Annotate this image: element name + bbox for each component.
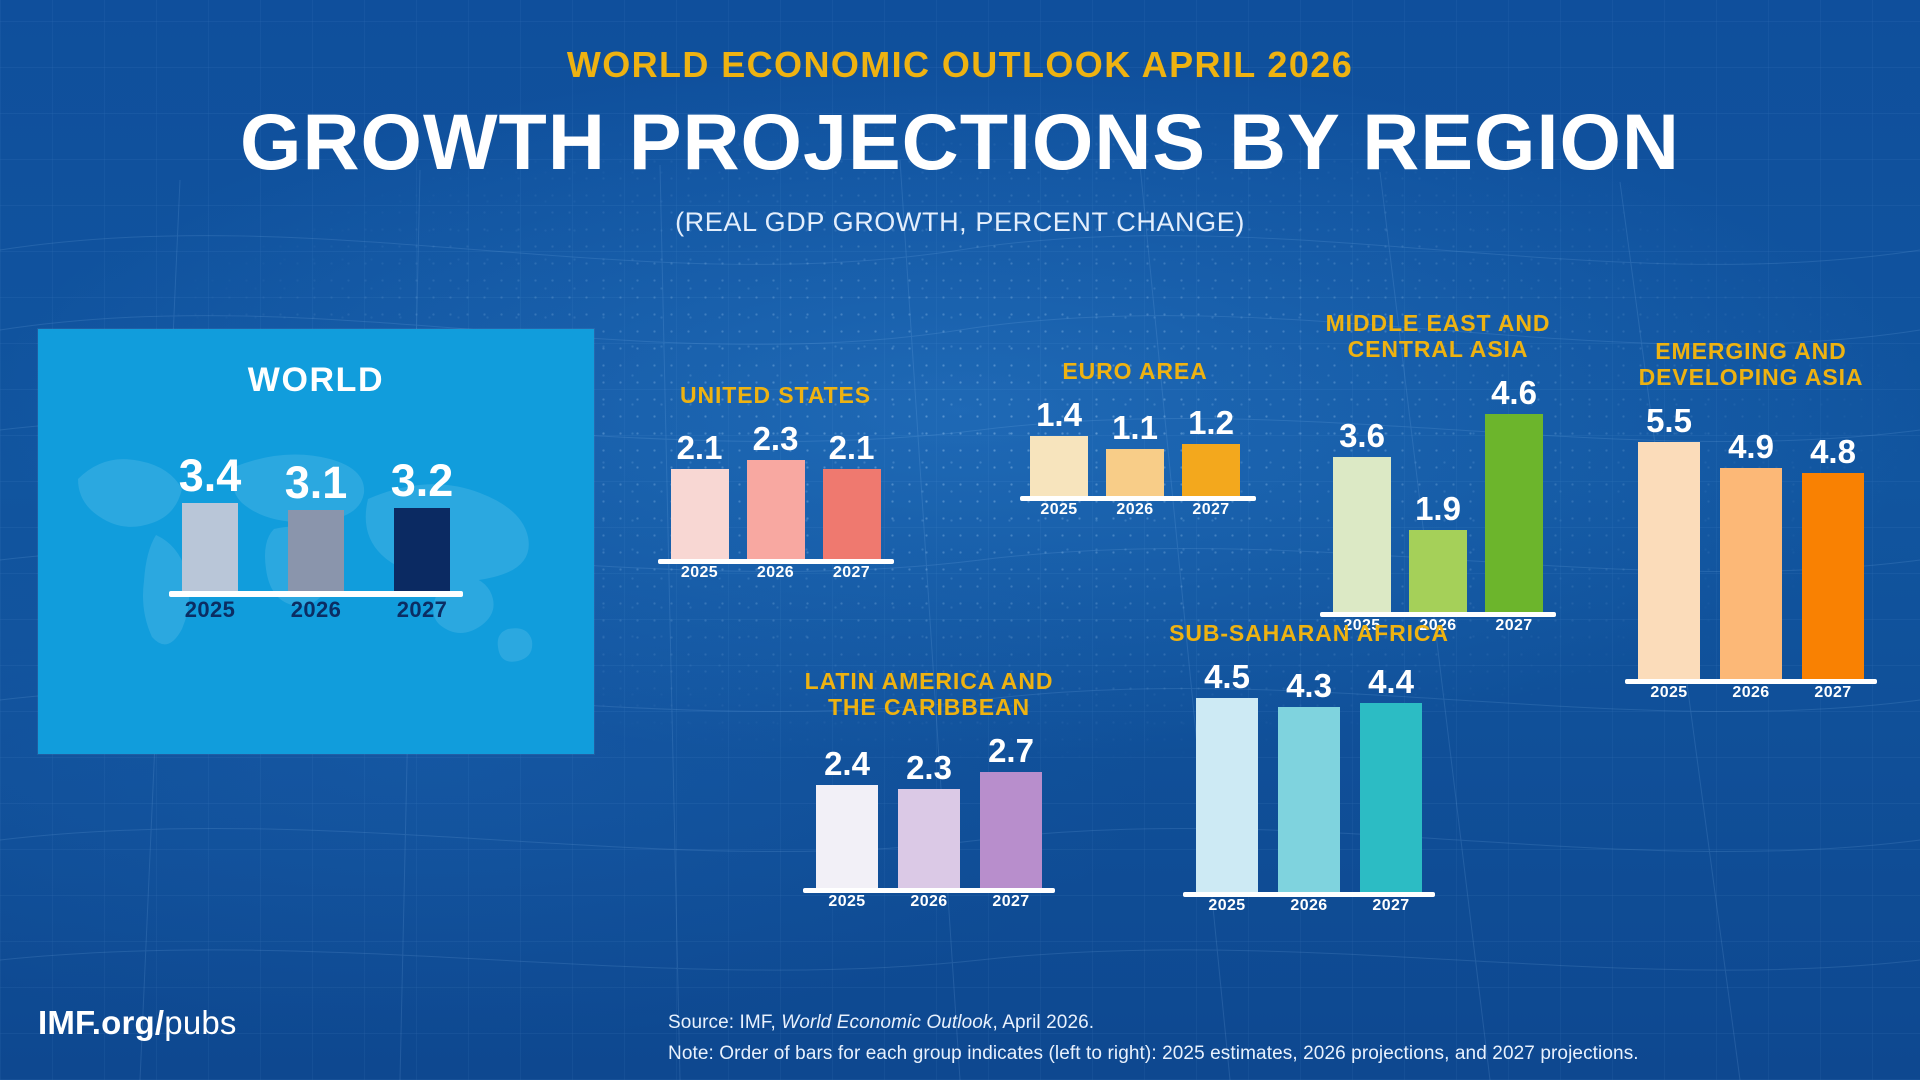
year-label: 2026: [747, 564, 805, 582]
bar: [1360, 703, 1422, 892]
year-label: 2027: [1360, 897, 1422, 915]
year-label: 2026: [1278, 897, 1340, 915]
year-label: 2025: [816, 893, 878, 911]
bar: [1485, 414, 1543, 612]
bar-value-label: 3.4: [179, 453, 242, 498]
bar: [1638, 442, 1700, 679]
year-label: 2027: [1182, 501, 1240, 519]
bar: [980, 772, 1042, 888]
year-label: 2026: [1720, 684, 1782, 702]
bar-column: 2.1: [823, 431, 881, 559]
bar-column: 1.1: [1106, 411, 1164, 496]
footnotes: Source: IMF, World Economic Outlook, Apr…: [668, 1008, 1639, 1070]
bar-column: 2.4: [816, 747, 878, 888]
bar: [1030, 436, 1088, 496]
bar: [816, 785, 878, 888]
region-bar-chart: 2.42.32.7202520262027: [784, 728, 1074, 911]
region-bars: 2.42.32.7: [784, 728, 1074, 888]
source-suffix: , April 2026.: [993, 1012, 1095, 1033]
kicker-text: WORLD ECONOMIC OUTLOOK APRIL 2026: [0, 44, 1920, 86]
bar-column: 3.4: [182, 453, 238, 591]
bar-value-label: 2.7: [988, 734, 1034, 767]
bar-column: 1.2: [1182, 406, 1240, 496]
bar-value-label: 5.5: [1646, 404, 1692, 437]
bar-column: 3.1: [288, 460, 344, 591]
year-label: 2027: [1802, 684, 1864, 702]
year-label: 2025: [1638, 684, 1700, 702]
year-label: 2027: [823, 564, 881, 582]
bar-column: 2.7: [980, 734, 1042, 888]
bar-column: 4.8: [1802, 435, 1864, 679]
bar-value-label: 4.9: [1728, 430, 1774, 463]
year-label: 2026: [1106, 501, 1164, 519]
bar-column: 4.3: [1278, 669, 1340, 892]
bar: [671, 469, 729, 559]
bar-column: 1.9: [1409, 492, 1467, 612]
bar: [394, 508, 450, 591]
bar: [747, 460, 805, 559]
bar-value-label: 4.8: [1810, 435, 1856, 468]
region-year-labels: 202520262027: [1638, 684, 1864, 702]
bar-value-label: 2.3: [906, 751, 952, 784]
page-subtitle: (REAL GDP GROWTH, PERCENT CHANGE): [0, 207, 1920, 238]
region-bars: 3.61.94.6: [1318, 370, 1558, 612]
bar: [1720, 468, 1782, 679]
bar-value-label: 2.4: [824, 747, 870, 780]
year-label: 2025: [1196, 897, 1258, 915]
bar-column: 3.6: [1333, 419, 1391, 612]
region-panel-title: EMERGING ANDDEVELOPING ASIA: [1620, 338, 1882, 390]
region-bar-chart: 1.41.11.2202520262027: [1020, 392, 1250, 519]
bar-column: 3.2: [394, 458, 450, 591]
region-year-labels: 202520262027: [1196, 897, 1422, 915]
region-bar-chart: 4.54.34.4202520262027: [1168, 654, 1450, 915]
infographic-header: WORLD ECONOMIC OUTLOOK APRIL 2026 GROWTH…: [0, 0, 1920, 238]
bar-column: 4.6: [1485, 376, 1543, 612]
region-bars: 1.41.11.2: [1020, 392, 1250, 496]
bar-value-label: 3.6: [1339, 419, 1385, 452]
region-panel-title: MIDDLE EAST ANDCENTRAL ASIA: [1318, 310, 1558, 362]
region-panel-latin-america: LATIN AMERICA ANDTHE CARIBBEAN2.42.32.72…: [784, 668, 1074, 911]
year-label: 2027: [1485, 617, 1543, 635]
region-panel-sub-saharan: SUB-SAHARAN AFRICA4.54.34.4202520262027: [1168, 620, 1450, 915]
region-bars: 5.54.94.8: [1620, 398, 1882, 679]
region-panel-middle-east: MIDDLE EAST ANDCENTRAL ASIA3.61.94.62025…: [1318, 310, 1558, 635]
region-year-labels: 202520262027: [1030, 501, 1240, 519]
bar-value-label: 4.6: [1491, 376, 1537, 409]
bar: [898, 789, 960, 888]
source-publication: World Economic Outlook: [781, 1012, 992, 1033]
bar: [823, 469, 881, 559]
bar: [182, 503, 238, 591]
bar: [1409, 530, 1467, 612]
region-bar-chart: 5.54.94.8202520262027: [1620, 398, 1882, 702]
region-bars: 4.54.34.4: [1168, 654, 1450, 892]
bar: [1802, 473, 1864, 679]
imf-brand-logo[interactable]: IMF.org/pubs: [38, 1004, 237, 1042]
bar-value-label: 1.4: [1036, 398, 1082, 431]
world-panel: WORLD 3.43.13.2 202520262027: [38, 329, 594, 754]
bar-value-label: 1.2: [1188, 406, 1234, 439]
region-panel-title: UNITED STATES: [648, 382, 903, 408]
bar: [1182, 444, 1240, 496]
bar: [1196, 698, 1258, 892]
bar-value-label: 1.1: [1112, 411, 1158, 444]
bar-value-label: 3.2: [391, 458, 454, 503]
region-panel-euro-area: EURO AREA1.41.11.2202520262027: [1020, 358, 1250, 519]
source-prefix: Source: IMF,: [668, 1012, 781, 1033]
brand-bold: IMF.org/: [38, 1004, 164, 1041]
bar: [1106, 449, 1164, 496]
region-panel-title: SUB-SAHARAN AFRICA: [1168, 620, 1450, 646]
bar-column: 2.3: [747, 422, 805, 559]
bar-column: 4.5: [1196, 660, 1258, 892]
year-label: 2025: [182, 597, 238, 623]
bar-value-label: 2.1: [829, 431, 875, 464]
bar-value-label: 2.3: [753, 422, 799, 455]
world-bar-chart: 3.43.13.2 202520262027: [38, 436, 594, 623]
year-label: 2025: [1030, 501, 1088, 519]
bar-column: 1.4: [1030, 398, 1088, 496]
bar-column: 4.4: [1360, 665, 1422, 892]
region-year-labels: 202520262027: [816, 893, 1042, 911]
region-year-labels: 202520262027: [671, 564, 881, 582]
bar-column: 2.3: [898, 751, 960, 888]
region-bars: 2.12.32.1: [648, 416, 903, 559]
page-title: GROWTH PROJECTIONS BY REGION: [0, 102, 1920, 181]
bar: [1333, 457, 1391, 612]
world-bars: 3.43.13.2: [38, 436, 594, 591]
brand-light: pubs: [164, 1004, 236, 1041]
year-label: 2026: [288, 597, 344, 623]
bar-column: 4.9: [1720, 430, 1782, 679]
region-panel-united-states: UNITED STATES2.12.32.1202520262027: [648, 382, 903, 582]
bar: [288, 510, 344, 591]
region-bar-chart: 3.61.94.6202520262027: [1318, 370, 1558, 635]
year-label: 2025: [671, 564, 729, 582]
region-panel-emerging-asia: EMERGING ANDDEVELOPING ASIA5.54.94.82025…: [1620, 338, 1882, 702]
bar-value-label: 4.5: [1204, 660, 1250, 693]
world-panel-title: WORLD: [38, 361, 594, 400]
source-line: Source: IMF, World Economic Outlook, Apr…: [668, 1008, 1639, 1039]
bar-value-label: 4.3: [1286, 669, 1332, 702]
bar-value-label: 3.1: [285, 460, 348, 505]
region-panel-title: EURO AREA: [1020, 358, 1250, 384]
region-panel-title: LATIN AMERICA ANDTHE CARIBBEAN: [784, 668, 1074, 720]
world-year-labels: 202520262027: [182, 597, 450, 623]
bar-value-label: 2.1: [677, 431, 723, 464]
year-label: 2027: [980, 893, 1042, 911]
region-bar-chart: 2.12.32.1202520262027: [648, 416, 903, 582]
bar-column: 5.5: [1638, 404, 1700, 679]
year-label: 2027: [394, 597, 450, 623]
bar-value-label: 4.4: [1368, 665, 1414, 698]
bar: [1278, 707, 1340, 892]
bar-value-label: 1.9: [1415, 492, 1461, 525]
note-line: Note: Order of bars for each group indic…: [668, 1039, 1639, 1070]
year-label: 2026: [898, 893, 960, 911]
bar-column: 2.1: [671, 431, 729, 559]
